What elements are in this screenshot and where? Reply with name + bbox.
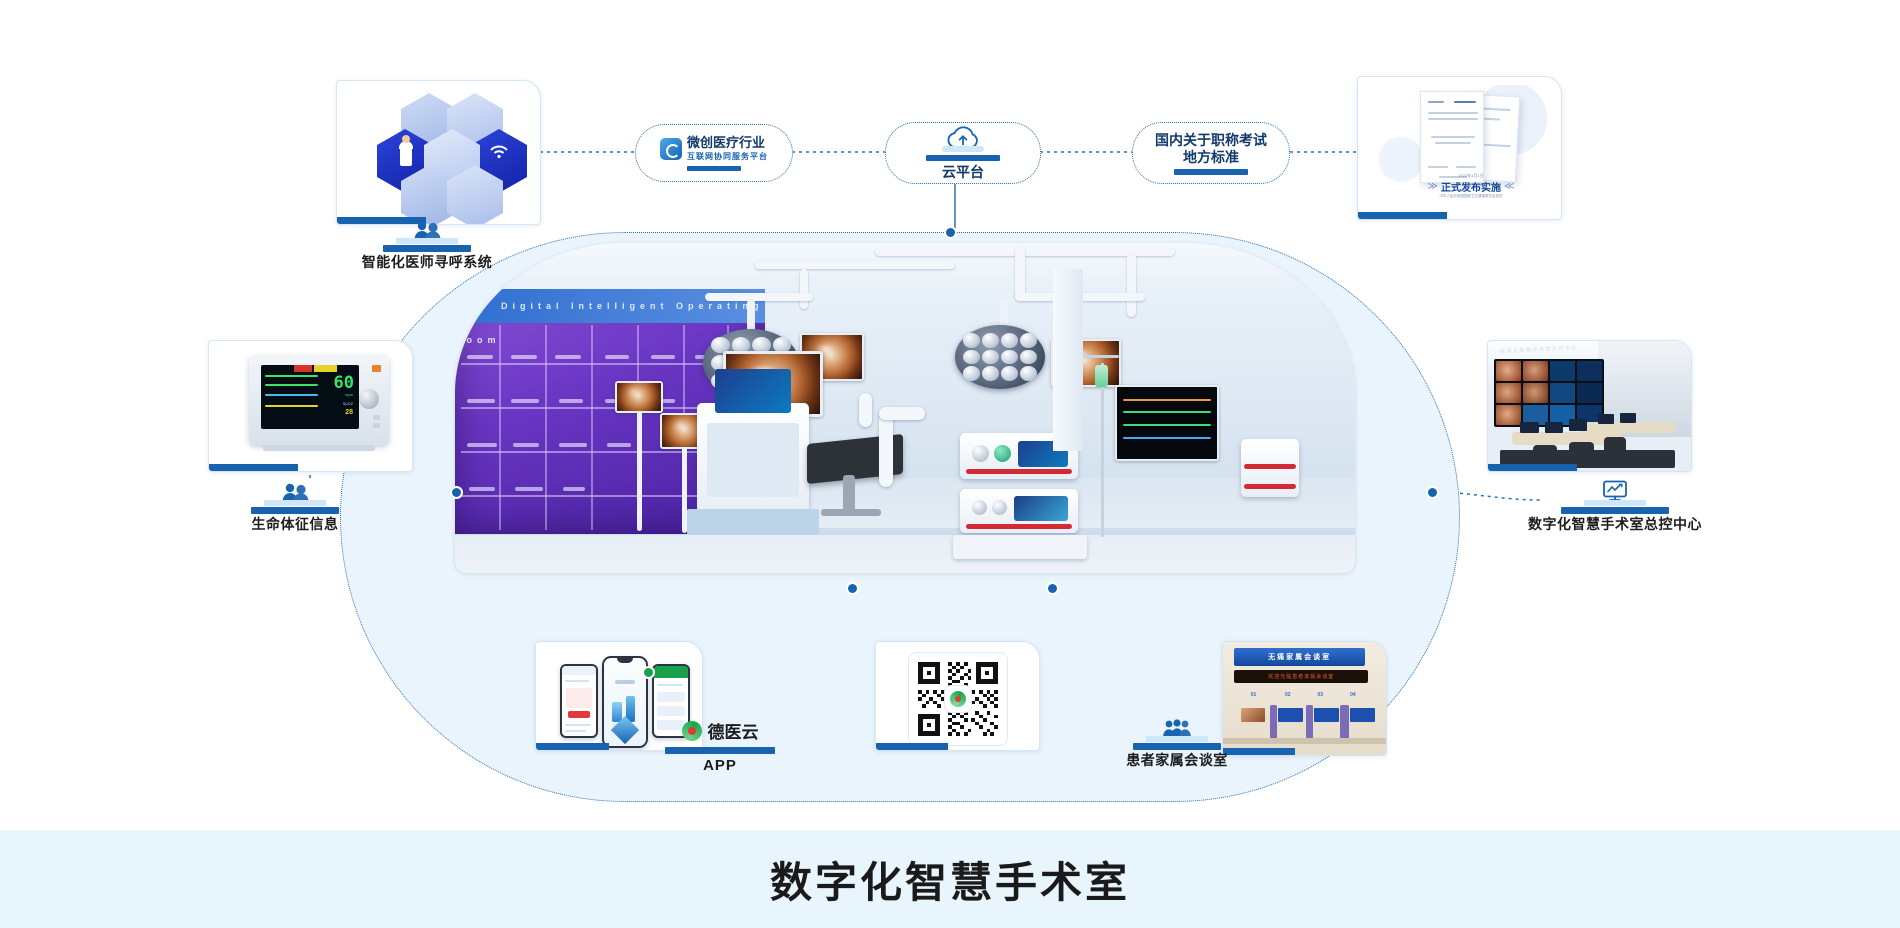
oval-node-right bbox=[1428, 488, 1437, 497]
node-control-center-label: 数字化智慧手术室总控中心 bbox=[1470, 514, 1760, 534]
monitor-spo2-value: 28 bbox=[345, 409, 353, 416]
badge-weichuang-subtitle: 互联网协同服务平台 bbox=[687, 151, 768, 162]
badge-standard-line1: 国内关于职称考试 bbox=[1155, 132, 1267, 150]
deyiyun-logo-icon bbox=[682, 721, 702, 741]
control-room-card[interactable]: 数字化智慧手术室总控中心 bbox=[1487, 340, 1692, 472]
group-icon bbox=[1062, 714, 1292, 738]
robotic-arm bbox=[879, 413, 893, 487]
node-vital-signs[interactable]: 生命体征信息 bbox=[180, 478, 410, 534]
pole-screen-a bbox=[615, 381, 663, 413]
qr-code-card[interactable] bbox=[875, 641, 1040, 751]
node-vital-signs-label: 生命体征信息 bbox=[180, 514, 410, 534]
operating-room-photo: Digital Intelligent Operating Room bbox=[455, 243, 1355, 573]
vitals-wall-display bbox=[1115, 385, 1219, 461]
doc-banner-bottom: 中华人民共和国国家卫生健康委员会发布 bbox=[1386, 194, 1556, 199]
oval-node-top bbox=[946, 228, 955, 237]
oval-node-bottom-left bbox=[848, 584, 857, 593]
surgical-tower-lower bbox=[960, 489, 1078, 533]
badge-weichuang-platform[interactable]: 微创医疗行业 互联网协同服务平台 bbox=[635, 124, 793, 182]
badge-national-standard[interactable]: 国内关于职称考试 地方标准 bbox=[1132, 122, 1290, 184]
badge-cloud-platform[interactable]: 云平台 bbox=[885, 122, 1041, 184]
footer-band: 数字化智慧手术室 bbox=[0, 830, 1900, 928]
oval-node-left bbox=[452, 488, 461, 497]
monitor-unit: bpm bbox=[345, 392, 353, 397]
page-title: 数字化智慧手术室 bbox=[770, 849, 1130, 910]
standard-document-card[interactable]: 2023年4月1日 ≫ 正式发布实施 ≪ 中华人民共和国国家卫生健康委员会发布 bbox=[1357, 76, 1562, 220]
node-family-meeting-room[interactable]: 患者家属会谈室 bbox=[1062, 714, 1292, 770]
people-icon bbox=[180, 478, 410, 502]
weichuang-logo-icon bbox=[660, 138, 682, 160]
people-icon bbox=[312, 216, 542, 240]
patient-monitor-card[interactable]: 60 bpm SpO2 28 bbox=[208, 340, 413, 472]
surgical-lamp-secondary bbox=[955, 325, 1045, 389]
node-control-center[interactable]: 数字化智慧手术室总控中心 bbox=[1470, 478, 1760, 534]
deyiyun-brand: 德医云 bbox=[708, 718, 759, 743]
booth-number-1: 01 bbox=[1251, 692, 1257, 698]
monitor-chart-icon bbox=[1470, 478, 1760, 502]
qr-center-logo-icon bbox=[945, 686, 971, 712]
oval-node-bottom-right bbox=[1048, 584, 1057, 593]
deyiyun-app-label[interactable]: 德医云 APP bbox=[620, 718, 820, 774]
paging-system-illustration-card[interactable] bbox=[336, 80, 541, 225]
monitor-spo2-label: SpO2 bbox=[343, 401, 353, 406]
badge-standard-line2: 地方标准 bbox=[1183, 149, 1239, 167]
equipment-cabinet bbox=[697, 403, 809, 513]
diagram-canvas: Digital Intelligent Operating Room bbox=[0, 0, 1900, 928]
cloud-upload-icon bbox=[943, 125, 983, 151]
node-doctor-paging-label: 智能化医师寻呼系统 bbox=[312, 252, 542, 272]
badge-cloud-label: 云平台 bbox=[942, 164, 984, 182]
booth-number-4: 04 bbox=[1350, 692, 1356, 698]
badge-weichuang-title: 微创医疗行业 bbox=[687, 135, 768, 151]
meeting-led-text: 欢迎光临患者家属会谈室 bbox=[1268, 673, 1334, 680]
doc-banner: 正式发布实施 bbox=[1441, 179, 1501, 194]
booth-number-3: 03 bbox=[1318, 692, 1324, 698]
monitor-heart-rate: 60 bbox=[334, 373, 354, 393]
meeting-banner-text: 无痛家属会谈室 bbox=[1268, 652, 1331, 662]
node-doctor-paging-system[interactable]: 智能化医师寻呼系统 bbox=[312, 216, 542, 272]
booth-number-2: 02 bbox=[1285, 692, 1291, 698]
node-family-meeting-label: 患者家属会谈室 bbox=[1062, 750, 1292, 770]
deyiyun-app-text: APP bbox=[620, 757, 820, 774]
